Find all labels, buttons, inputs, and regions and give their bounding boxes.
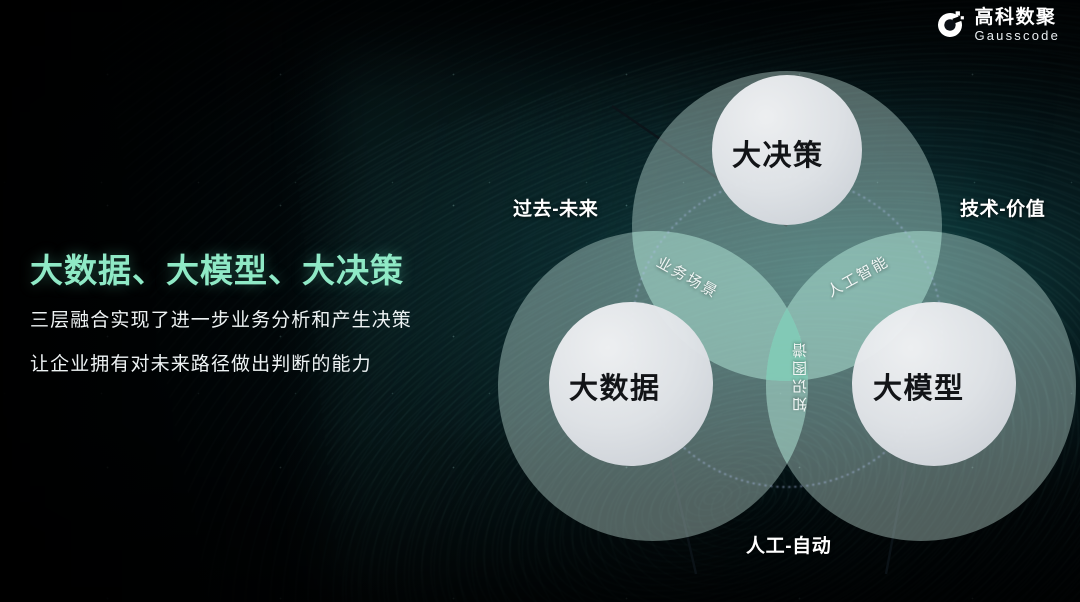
slide-canvas: 高科数聚 Gausscode 大数据、大模型、大决策 三层融合实现了进一步业务分… [0, 0, 1080, 602]
brand-name-cn: 高科数聚 [974, 8, 1060, 27]
page-title: 大数据、大模型、大决策 [30, 250, 480, 291]
headline-block: 大数据、大模型、大决策 三层融合实现了进一步业务分析和产生决策 让企业拥有对未来… [30, 250, 480, 378]
subtitle-line-2: 让企业拥有对未来路径做出判断的能力 [30, 352, 480, 378]
axis-label-bottom: 人工-自动 [746, 531, 831, 558]
brand-logo: 高科数聚 Gausscode [935, 8, 1060, 42]
venn-label-bigdata: 大数据 [569, 365, 661, 407]
axis-label-left: 过去-未来 [513, 194, 598, 221]
venn-intersection-label-knowledge-graph: 知识图谱 [790, 340, 811, 412]
subtitle-line-1: 三层融合实现了进一步业务分析和产生决策 [30, 308, 480, 334]
gausscode-circle-mark-icon [935, 10, 965, 40]
axis-label-right: 技术-价值 [960, 194, 1045, 221]
brand-name-en: Gausscode [974, 29, 1060, 42]
venn-label-decision: 大决策 [732, 132, 824, 174]
venn-diagram [494, 14, 1080, 602]
venn-label-bigmodel: 大模型 [873, 365, 965, 407]
brand-logo-text: 高科数聚 Gausscode [974, 8, 1060, 42]
